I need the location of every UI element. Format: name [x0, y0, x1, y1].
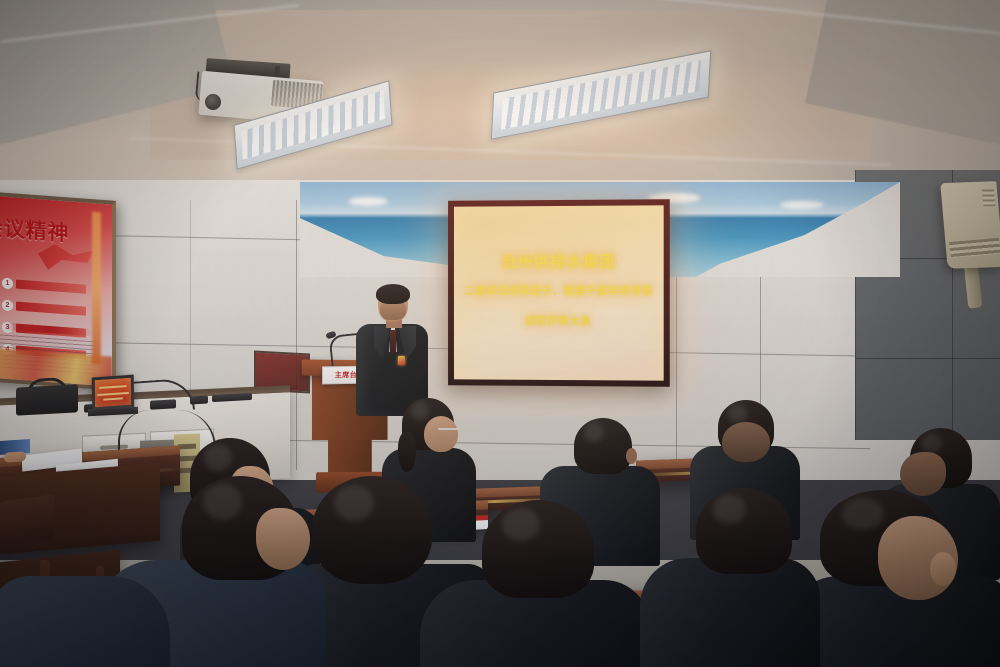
attendee-body: [640, 558, 820, 667]
hair-highlight: [584, 422, 604, 441]
hair-highlight: [728, 404, 747, 422]
conference-room-photo: 会议精神 1 2 3 4 沧州供排水集团 二级单位领导班子、管理干部年终考核 述…: [0, 0, 1000, 667]
wall-seam-h2: [0, 340, 870, 356]
attendee-head: [424, 416, 458, 452]
attendee-head: [722, 422, 770, 462]
hair-highlight: [334, 485, 375, 522]
presenter-lapel-badge-icon: [398, 356, 405, 365]
slide-subtitle-2: 述职评审大会: [454, 313, 664, 328]
laptop-slide-line-3: [103, 398, 123, 401]
attendee-body: [0, 576, 170, 667]
attendee-hair: [312, 476, 432, 584]
hair-highlight: [921, 433, 942, 453]
foreground-attendee-center: [420, 500, 650, 667]
podium-column: [328, 440, 372, 474]
presenter-hair: [376, 284, 410, 304]
poster-item-bar: [16, 280, 86, 294]
foreground-attendee-left: [0, 520, 170, 667]
laptop-slide-line-2: [97, 392, 129, 396]
hair-highlight: [713, 495, 746, 524]
laptop-slide-line-1: [98, 385, 127, 389]
laptop-screen: [95, 378, 131, 407]
banner-cloud-1: [348, 197, 388, 206]
poster-item-number: 2: [2, 300, 13, 312]
grey-seam-h2: [856, 358, 1000, 359]
slide-subtitle-1: 二级单位领导班子、管理干部年终考核: [454, 283, 664, 298]
av-black-box-2: [150, 399, 176, 409]
presenter-tie: [390, 330, 396, 354]
ac-louver-vent: [949, 238, 1000, 258]
presentation-laptop[interactable]: [92, 375, 135, 411]
wall-seam-v1: [296, 200, 297, 470]
hair-highlight: [411, 402, 429, 420]
poster-edge-light: [92, 212, 101, 365]
projection-screen: 沧州供排水集团 二级单位领导班子、管理干部年终考核 述职评审大会: [448, 199, 670, 387]
banner-cloud-4: [780, 201, 824, 209]
hair-highlight: [204, 444, 231, 471]
laptop-bag: [16, 384, 78, 415]
air-conditioner-unit: [940, 181, 1000, 269]
av-black-box-3: [190, 396, 208, 405]
projection-screen-surface: 沧州供排水集团 二级单位领导班子、管理干部年终考核 述职评审大会: [454, 205, 664, 380]
ac-control-panel: [982, 189, 996, 207]
poster-item-bar: [16, 302, 86, 316]
hair-highlight: [203, 484, 242, 519]
attendee-hand-left: [4, 451, 26, 463]
attendee-ponytail: [398, 432, 416, 472]
hair-highlight: [842, 498, 884, 531]
presenter-at-podium: [356, 286, 428, 416]
attendee-ear: [930, 552, 956, 586]
attendee-hair: [696, 488, 792, 574]
slide-title: 沧州供排水集团: [454, 249, 664, 272]
attendee-hair: [482, 500, 594, 598]
attendee-head: [256, 508, 310, 570]
attendee-hair: [574, 418, 632, 474]
dark-suit-attendee-right: [640, 488, 820, 667]
attendee-glasses-icon: [438, 428, 458, 430]
hair-highlight: [502, 508, 540, 541]
poster-list-item: 2: [2, 297, 94, 322]
attendee-ear: [626, 448, 637, 464]
poster-item-number: 1: [2, 278, 13, 290]
poster-list-item: 1: [2, 275, 94, 300]
nameplate-text: 主席台: [335, 370, 357, 380]
